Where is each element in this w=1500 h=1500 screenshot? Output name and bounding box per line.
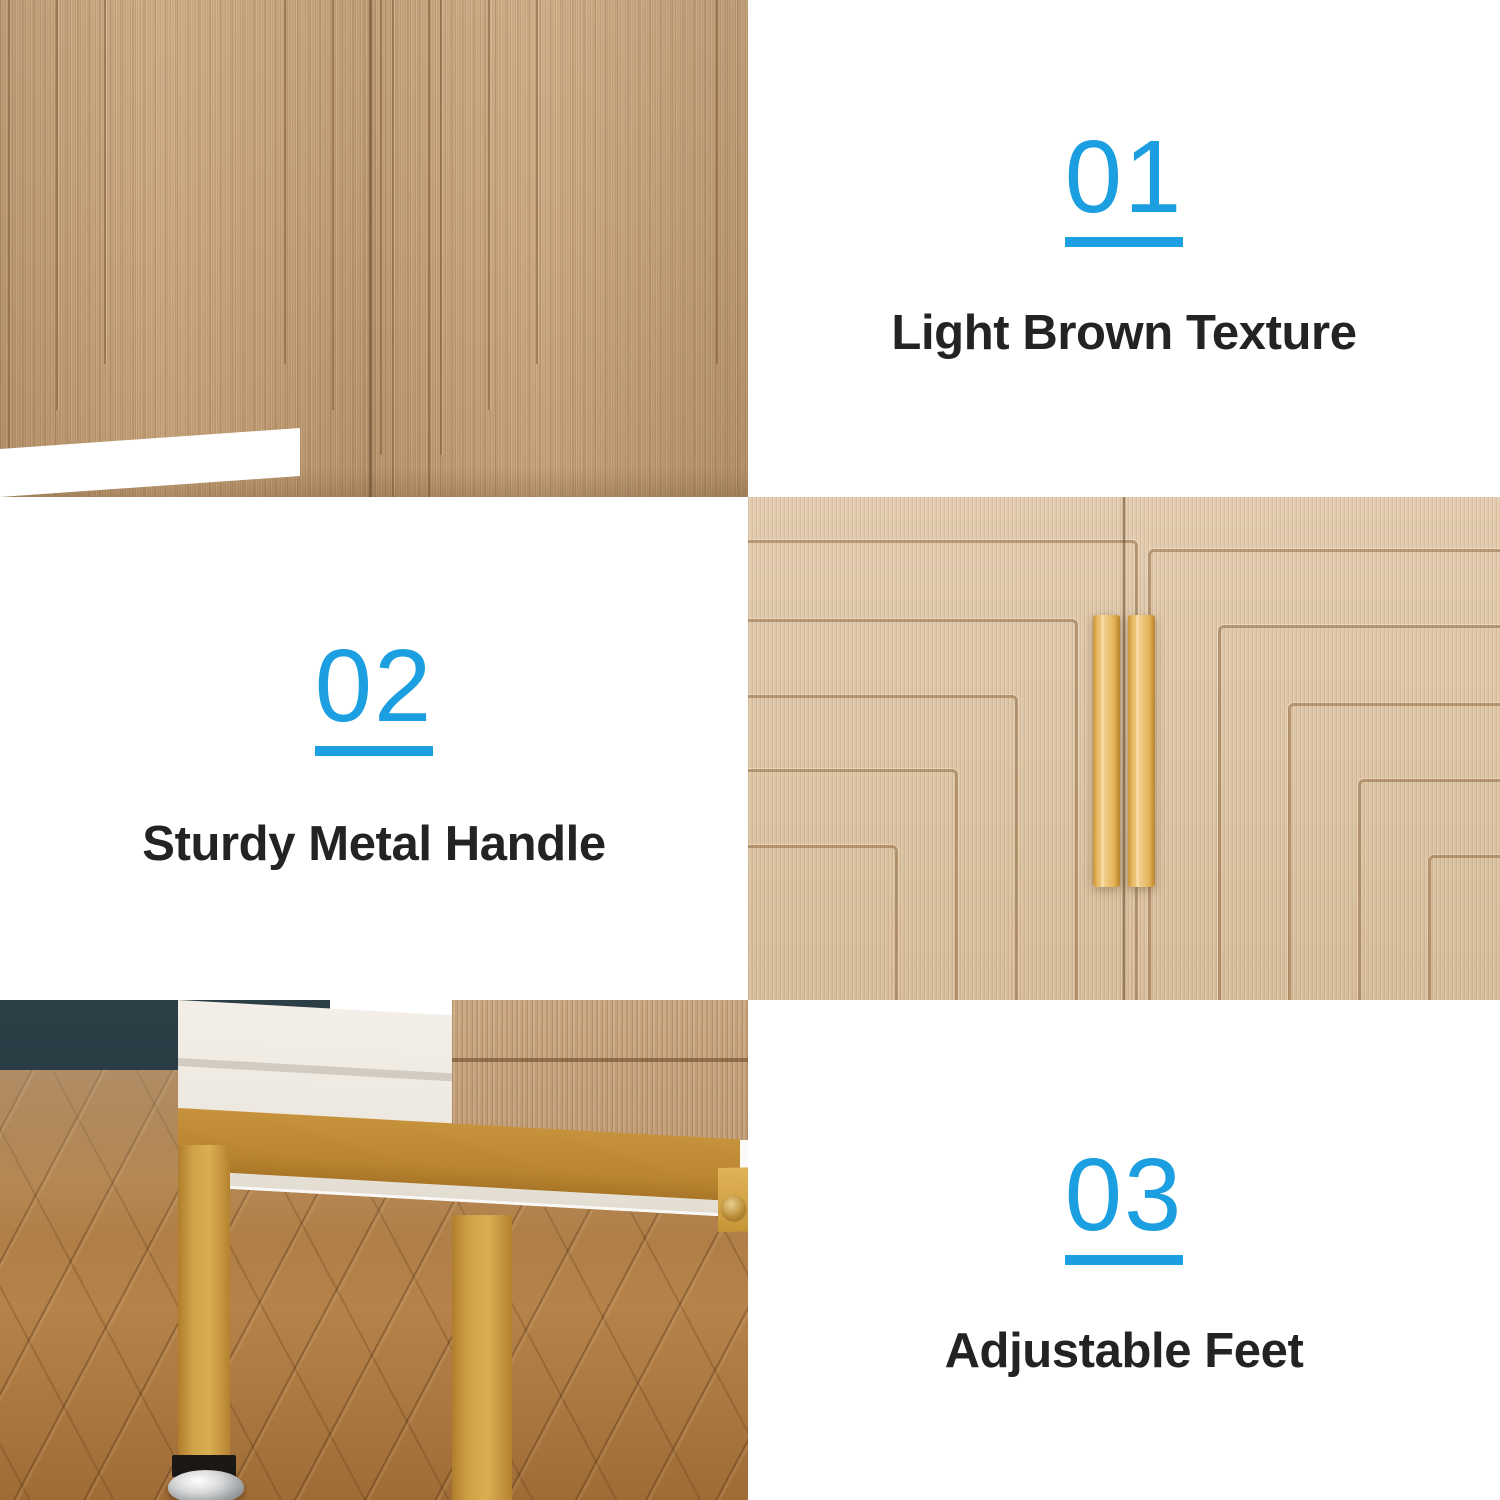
metal-handle-left (1093, 615, 1120, 887)
photo-adjustable-feet (0, 1000, 748, 1500)
cabinet-door-groove (452, 1058, 748, 1062)
feature-number-03: 03 (1065, 1146, 1184, 1244)
door-seam (1122, 497, 1126, 1000)
text-panel-feature-03: 03 Adjustable Feet (748, 1000, 1500, 1500)
number-underline-icon (315, 746, 433, 756)
feature-infographic-grid: 01 Light Brown Texture 02 Sturdy Metal H… (0, 0, 1500, 1500)
photo-sturdy-metal-handle (748, 497, 1500, 1000)
gold-leg-front (452, 1215, 512, 1500)
feature-caption-01: Light Brown Texture (891, 305, 1356, 361)
feature-caption-02: Sturdy Metal Handle (142, 816, 605, 872)
groove-step-r5 (1428, 855, 1500, 1000)
number-underline-icon (1065, 1255, 1183, 1265)
number-underline-icon (1065, 237, 1183, 247)
feature-number-01: 01 (1065, 128, 1184, 226)
text-panel-feature-01: 01 Light Brown Texture (748, 0, 1500, 497)
feature-number-02: 02 (315, 637, 434, 735)
number-badge-02: 02 (315, 637, 434, 756)
gold-leg-back (178, 1145, 230, 1465)
photo-light-brown-texture (0, 0, 748, 497)
adjustable-foot-back (168, 1470, 244, 1500)
feature-caption-03: Adjustable Feet (945, 1323, 1304, 1379)
metal-handle-right (1128, 615, 1155, 887)
groove-rect-l4 (104, 0, 286, 364)
text-panel-feature-02: 02 Sturdy Metal Handle (0, 497, 748, 1000)
groove-step-l5 (748, 845, 898, 1000)
number-badge-01: 01 (1065, 128, 1184, 247)
frame-screw (722, 1196, 746, 1220)
groove-rect-r4 (536, 0, 718, 364)
number-badge-03: 03 (1065, 1146, 1184, 1265)
